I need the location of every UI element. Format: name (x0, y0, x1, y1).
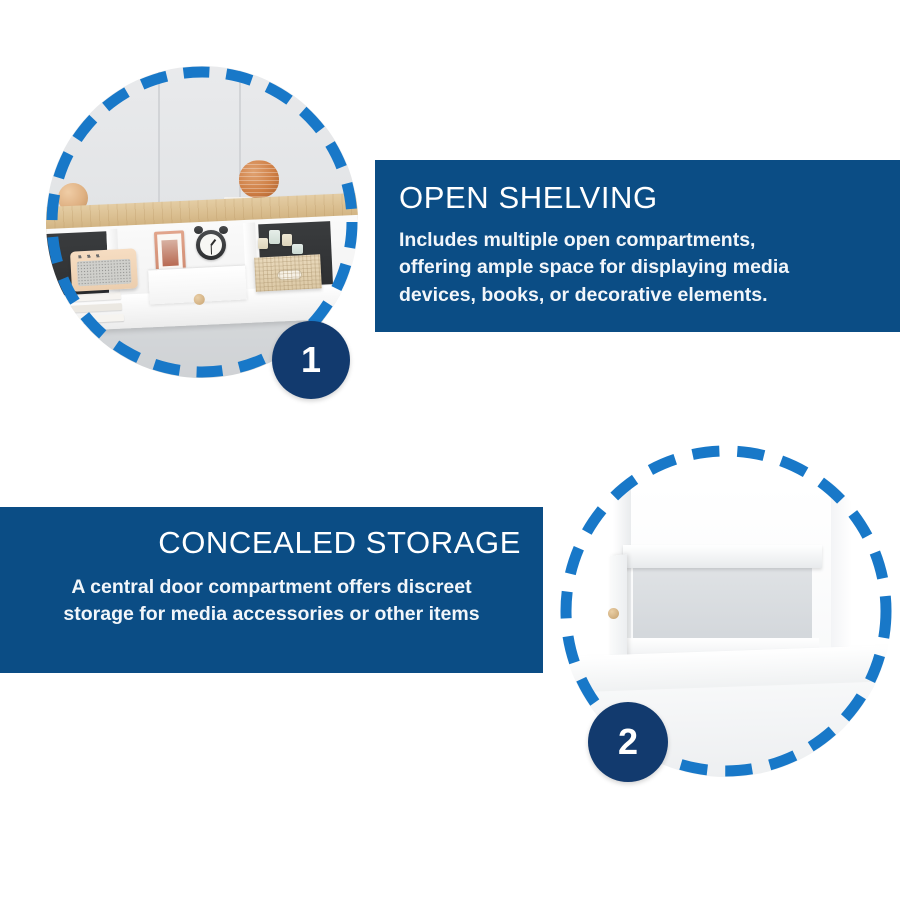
decor-alarm-clock (196, 230, 226, 260)
wall-seam (158, 66, 160, 213)
speaker-grill (76, 259, 131, 287)
feature-2-number-badge: 2 (588, 702, 668, 782)
decor-terracotta-vase (239, 160, 279, 198)
wall-seam (239, 66, 241, 213)
decor-tin (269, 230, 280, 244)
cabinet-interior-back (633, 568, 812, 641)
clock-body (196, 230, 226, 260)
feature-1-number-badge: 1 (272, 321, 350, 399)
feature-2-number: 2 (618, 724, 638, 760)
feature-1-description-line: Includes multiple open compartments, (399, 229, 755, 251)
decor-wicker-box (254, 255, 321, 293)
feature-1-description-line: devices, books, or decorative elements. (399, 284, 768, 306)
clock-bell-left (194, 226, 203, 234)
console-drawer (148, 265, 246, 305)
wicker-box-label (277, 270, 302, 281)
cabinet-door-knob (608, 608, 619, 619)
cabinet-inner-shelf (623, 545, 822, 568)
frame-artwork (162, 240, 179, 267)
decor-tin (258, 238, 268, 249)
infographic-canvas: 1 OPEN SHELVING Includes multiple open c… (0, 0, 900, 900)
feature-2-description: A central door compartment offers discre… (22, 574, 521, 629)
feature-2-description-line: A central door compartment offers discre… (71, 576, 471, 598)
feature-1-title: OPEN SHELVING (399, 182, 876, 215)
feature-1-number: 1 (301, 342, 321, 378)
clock-bell-right (219, 226, 228, 234)
decor-tin (292, 244, 303, 254)
clock-face (200, 234, 222, 256)
feature-2-title: CONCEALED STORAGE (22, 527, 521, 560)
feature-1-description-line: offering ample space for displaying medi… (399, 256, 789, 278)
clock-minute-hand (210, 245, 212, 255)
speaker-controls (78, 254, 105, 259)
decor-speaker (70, 248, 138, 291)
decor-tin (282, 234, 292, 246)
wall-background (46, 66, 358, 213)
feature-1-text-panel: OPEN SHELVING Includes multiple open com… (375, 160, 900, 332)
feature-2-description-line: storage for media accessories or other i… (63, 603, 479, 625)
feature-2-text-panel: CONCEALED STORAGE A central door compart… (0, 507, 543, 673)
feature-1-description: Includes multiple open compartments, off… (399, 227, 876, 310)
